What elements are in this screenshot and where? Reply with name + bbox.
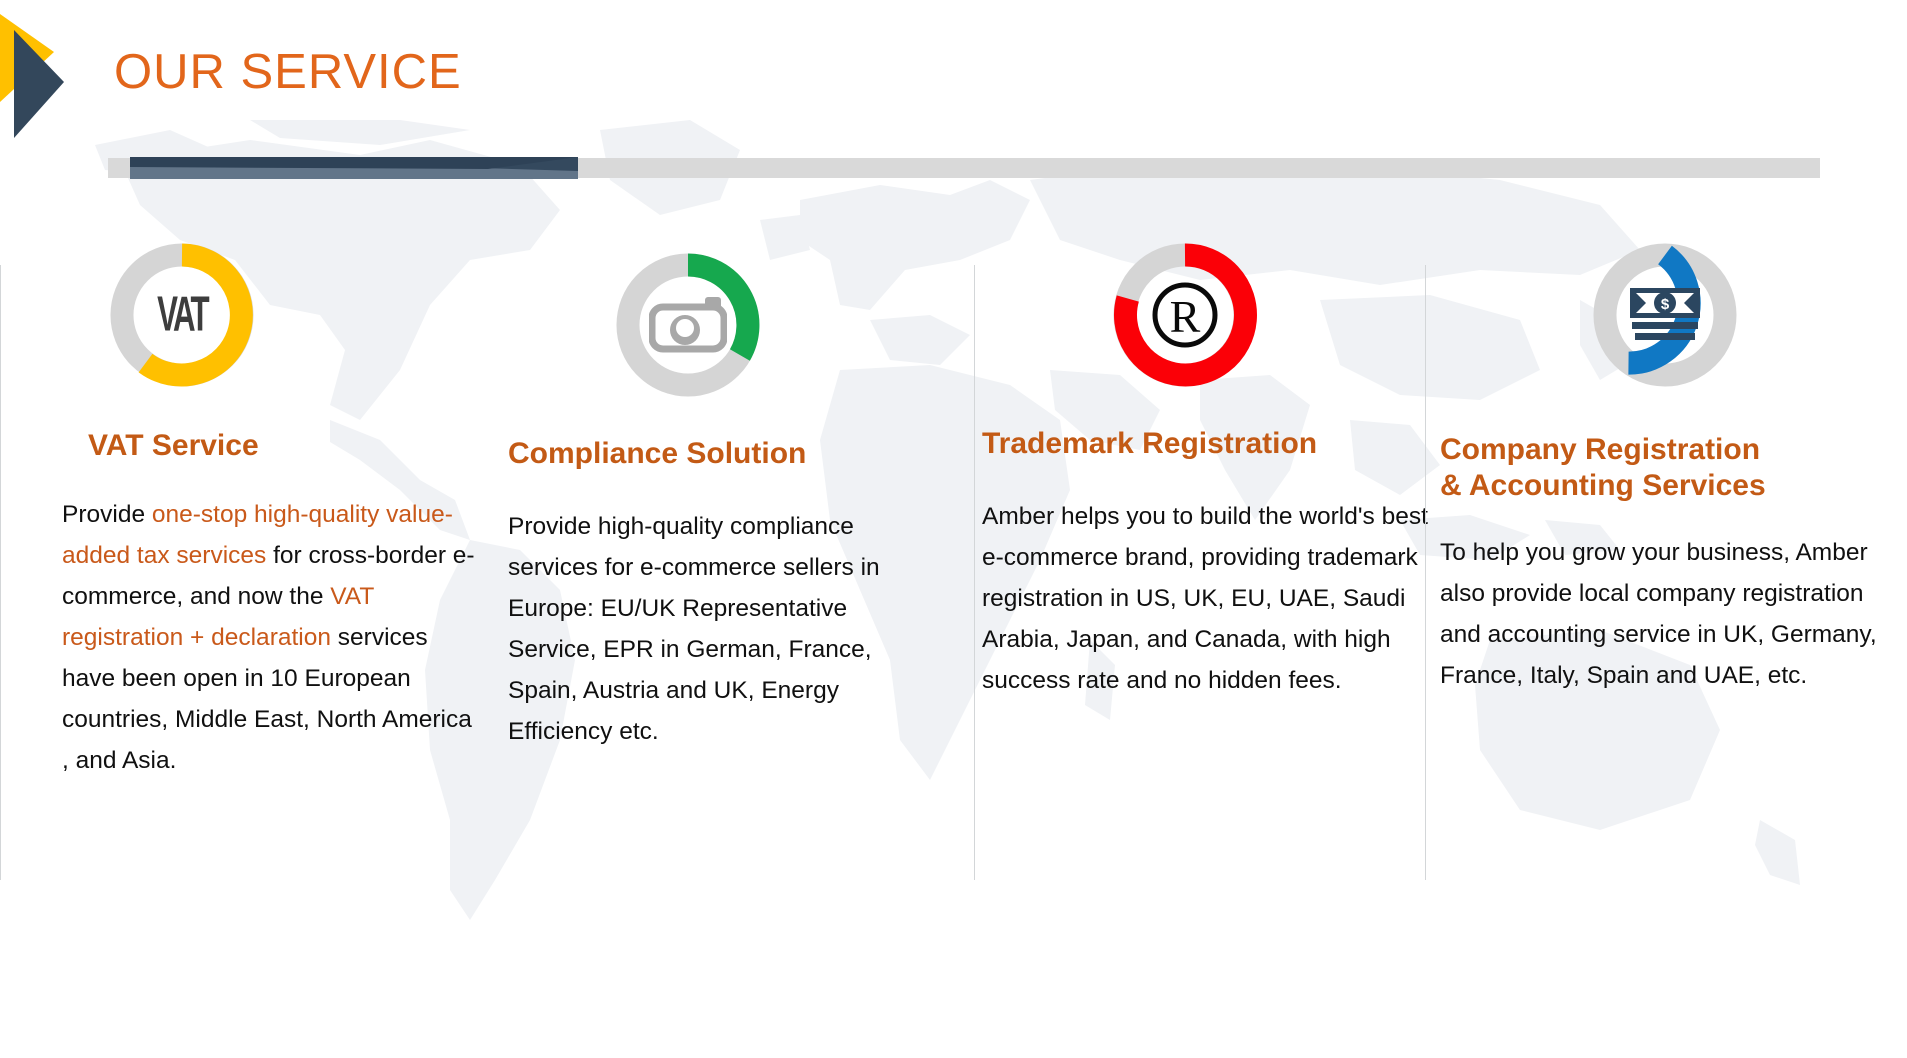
card-title-compliance-solution: Compliance Solution <box>508 436 938 472</box>
arrow-logo-icon <box>0 10 70 140</box>
page-title: OUR SERVICE <box>114 44 462 100</box>
card-title-trademark-registration: Trademark Registration <box>982 426 1432 462</box>
service-card-compliance-solution[interactable]: Compliance Solution Provide high-quality… <box>508 240 938 752</box>
column-divider-3 <box>1425 265 1426 880</box>
card-body-compliance-solution: Provide high-quality compliance services… <box>508 506 938 752</box>
vat-glyph: VAT <box>107 240 257 390</box>
column-divider-2 <box>974 265 975 880</box>
card-body-vat-service: Provide one-stop high-quality value-adde… <box>62 494 477 781</box>
body-segment: Provide high-quality compliance services… <box>508 513 880 745</box>
card-body-trademark-registration: Amber helps you to build the world's bes… <box>982 496 1432 701</box>
service-columns: VAT VAT Service Provide one-stop high-qu… <box>0 240 1907 1000</box>
registered-trademark-ring-icon: R <box>1110 240 1260 390</box>
camera-glyph <box>613 250 763 400</box>
svg-text:$: $ <box>1661 296 1670 313</box>
registered-trademark-glyph: R <box>1110 240 1260 390</box>
column-divider-1 <box>0 265 1 880</box>
body-segment: To help you grow your business, Amber al… <box>1440 539 1877 689</box>
card-title-company-registration-accounting: Company Registration & Accounting Servic… <box>1440 432 1880 504</box>
camera-ring-icon <box>613 250 763 400</box>
card-title-vat-service: VAT Service <box>88 428 477 464</box>
svg-text:R: R <box>1170 291 1201 342</box>
body-segment: Provide <box>62 501 152 528</box>
body-segment: Amber helps you to build the world's bes… <box>982 503 1428 694</box>
money-glyph: $ <box>1590 240 1740 390</box>
service-card-trademark-registration[interactable]: R Trademark Registration Amber helps you… <box>982 240 1432 701</box>
card-body-company-registration-accounting: To help you grow your business, Amber al… <box>1440 532 1880 696</box>
divider-ribbon <box>108 155 1820 181</box>
service-card-company-registration-accounting[interactable]: $ Company Registration & Accounting Serv… <box>1440 240 1880 696</box>
vat-ring-icon: VAT <box>107 240 257 390</box>
money-stack-ring-icon: $ <box>1590 240 1740 390</box>
service-card-vat-service[interactable]: VAT VAT Service Provide one-stop high-qu… <box>62 240 477 781</box>
